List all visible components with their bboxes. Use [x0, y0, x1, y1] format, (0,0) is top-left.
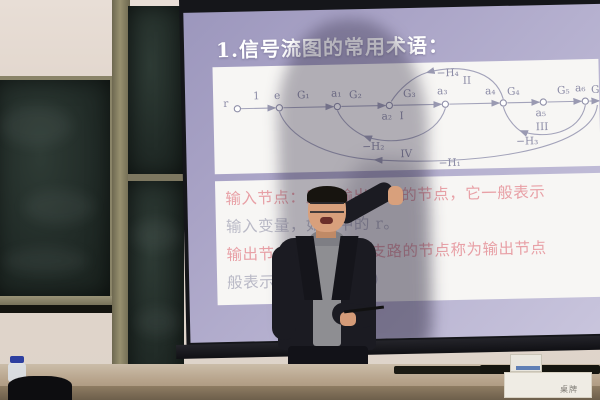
- presenter-second-hand: [340, 312, 356, 326]
- blackboard-panel-left: [0, 80, 110, 296]
- blackboard-panel-mid-top: [128, 6, 184, 176]
- fig-label-G5: G₅: [557, 85, 570, 97]
- fig-label-loop-III: III: [536, 121, 549, 133]
- fig-label-G6: G₆: [591, 84, 600, 96]
- presenter-hand: [388, 186, 403, 205]
- fig-label-a3: a₃: [437, 85, 448, 97]
- fig-label-H3: −H₃: [516, 135, 538, 147]
- desk-name-card-text: 桌牌: [560, 384, 578, 395]
- desk-name-card: [504, 372, 592, 398]
- lecture-photo: 1.信号流图的常用术语：: [0, 0, 600, 400]
- foreground-dark-shape: [8, 376, 72, 400]
- fig-label-H4: −H₄: [437, 67, 459, 79]
- fig-label-a4: a₄: [485, 85, 496, 97]
- blackboard-mid-seam: [128, 174, 184, 181]
- presenter-left-arm: [272, 246, 296, 340]
- desk-white-object-stripe: [516, 366, 540, 370]
- fig-label-r: r: [223, 98, 229, 110]
- fig-label-a6: a₆: [575, 82, 586, 94]
- fig-label-G4: G₄: [507, 86, 520, 98]
- chalk-tray-shadow: [0, 305, 116, 313]
- presenter-glasses: [310, 202, 344, 213]
- fig-label-1: 1: [253, 90, 260, 102]
- fig-label-a5: a₅: [535, 107, 546, 119]
- fig-label-H1: −H₁: [438, 157, 460, 169]
- fig-label-loop-II: II: [463, 75, 472, 87]
- presenter-mouth: [320, 217, 333, 224]
